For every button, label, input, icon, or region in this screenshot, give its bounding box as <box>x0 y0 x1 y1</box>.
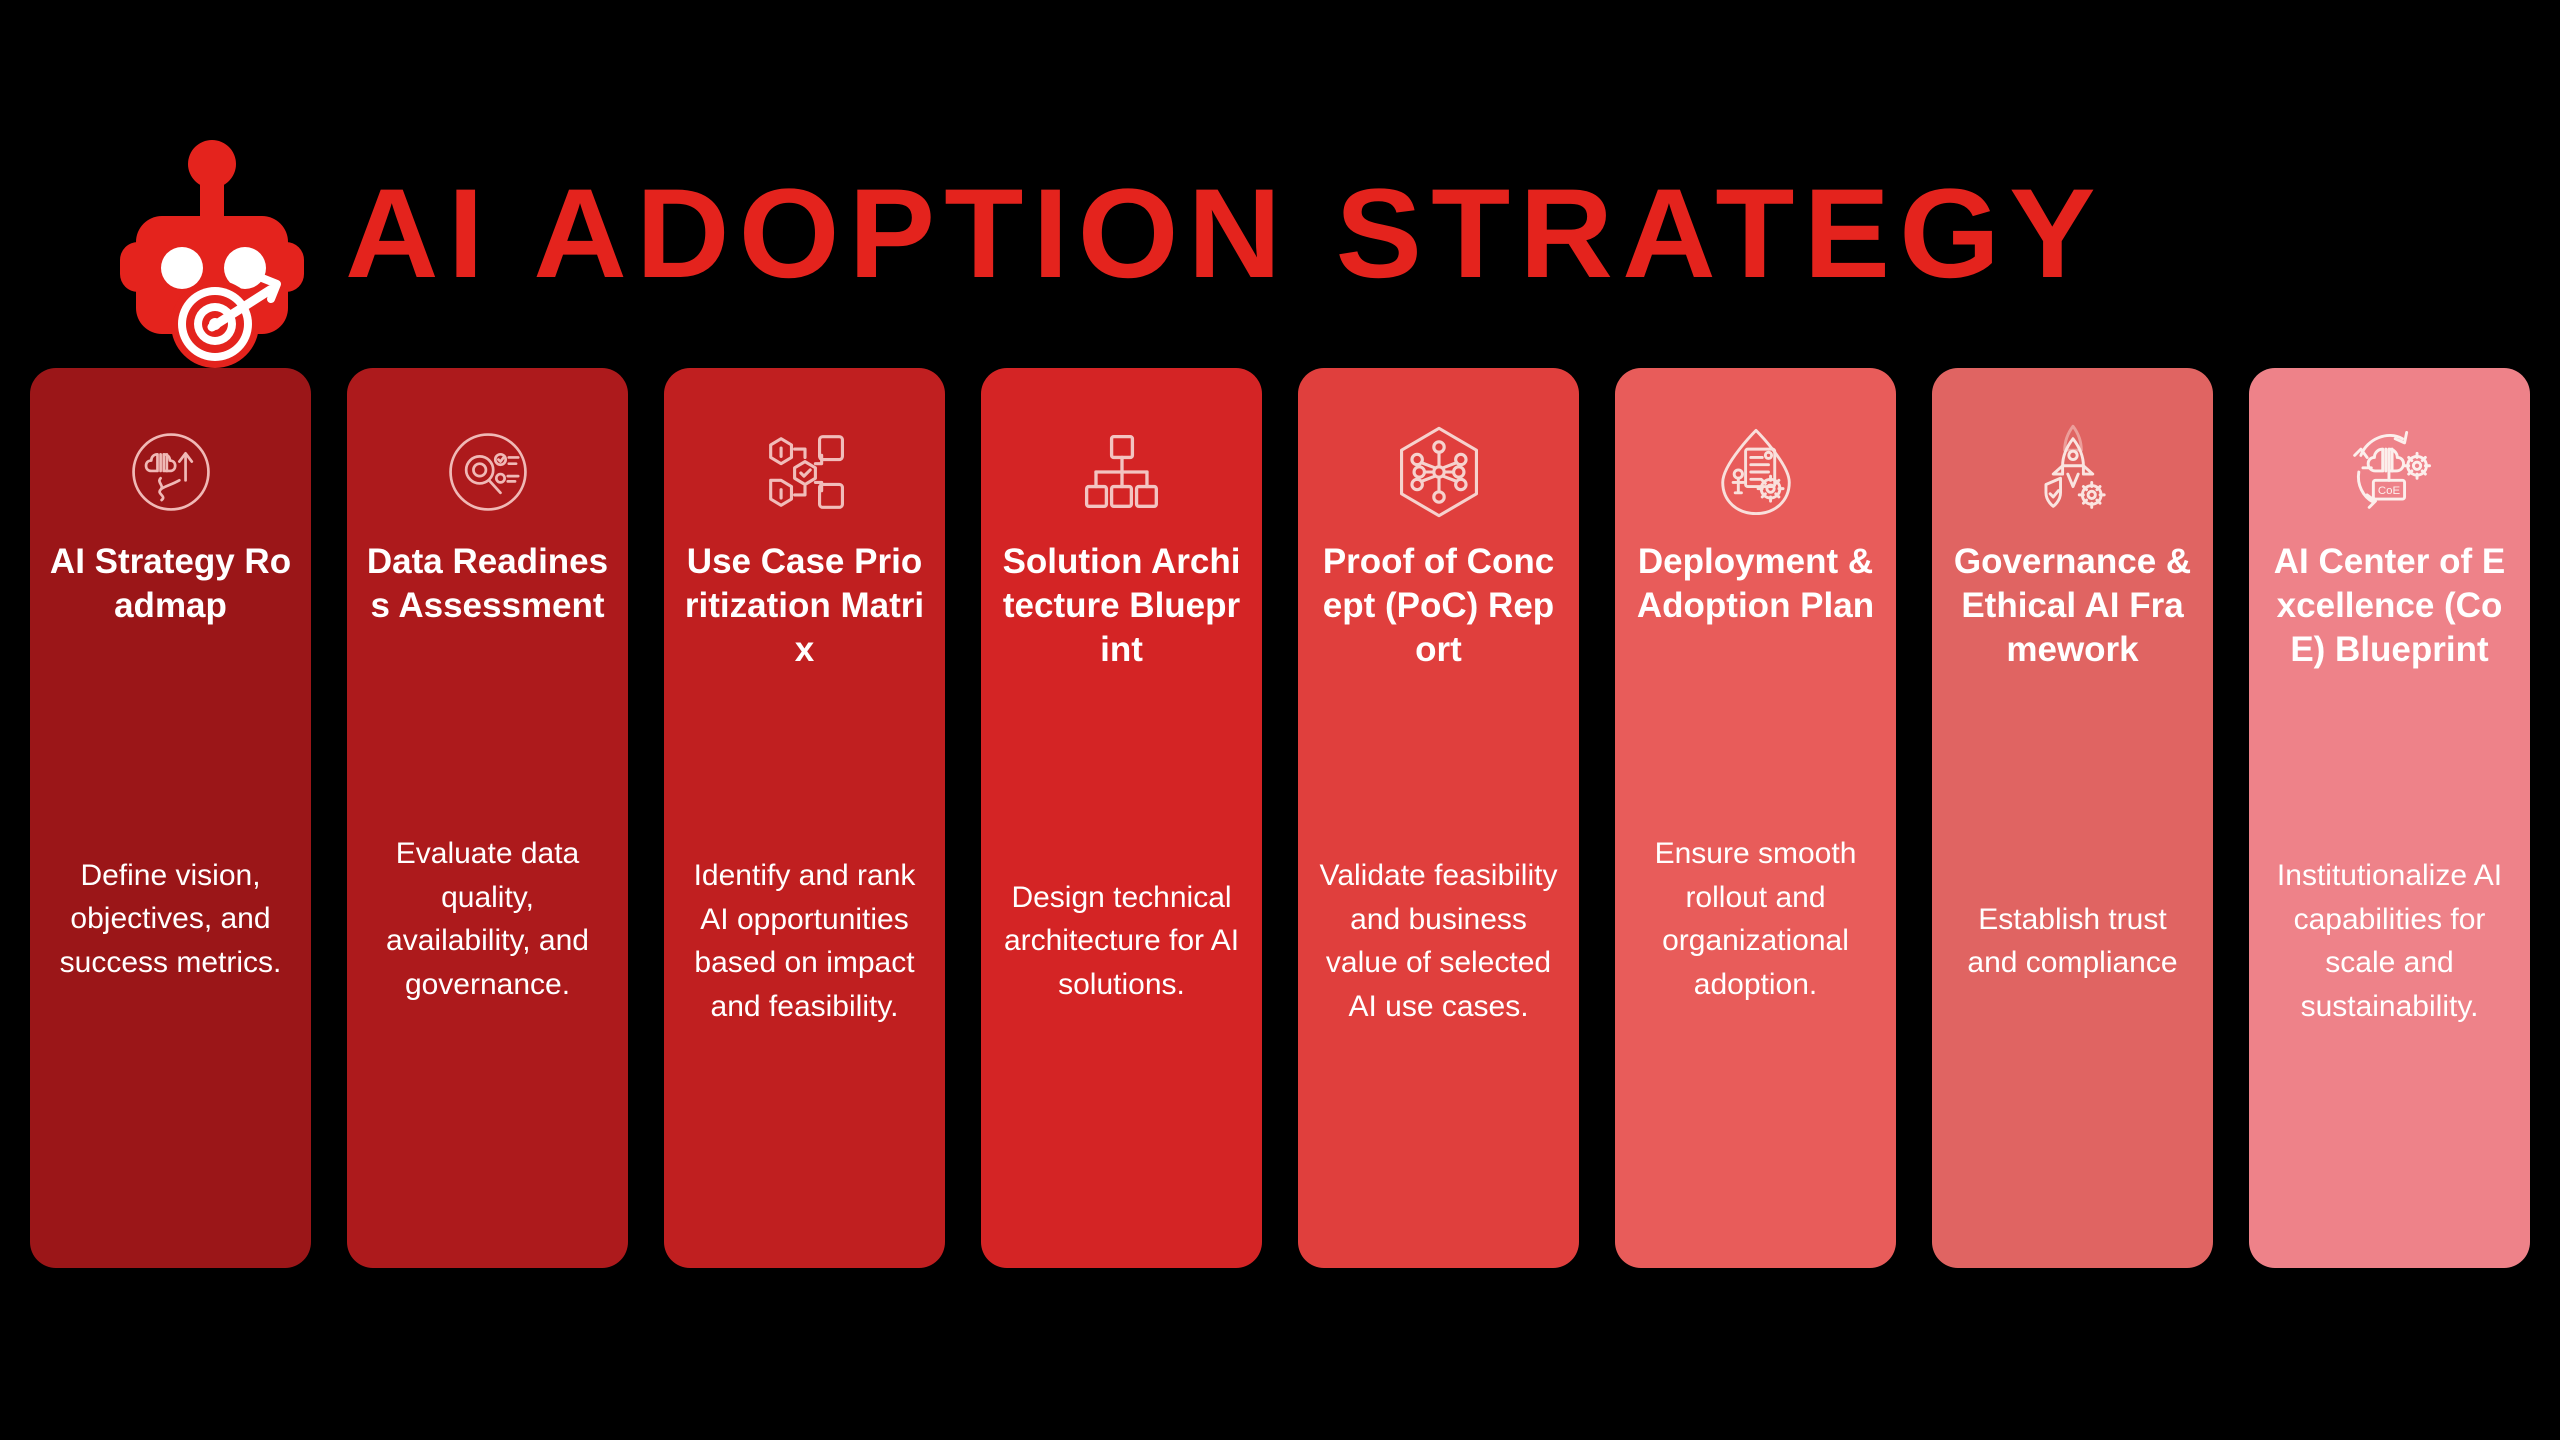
card-title: Data Readiness Assessment <box>365 540 610 628</box>
card-proof-of-concept-report[interactable]: Proof of Concept (PoC) Report Validate f… <box>1298 368 1579 1268</box>
card-row: AI Strategy Roadmap Define vision, objec… <box>30 368 2530 1268</box>
card-title: AI Strategy Roadmap <box>48 540 293 628</box>
hierarchy-tree-icon <box>1070 420 1174 524</box>
card-body: Evaluate data quality, availability, and… <box>365 628 610 1268</box>
card-governance-ethical-ai-framework[interactable]: Governance & Ethical AI Framework Establ… <box>1932 368 2213 1268</box>
card-body: Validate feasibility and business value … <box>1316 672 1561 1268</box>
card-title: Deployment & Adoption Plan <box>1633 540 1878 628</box>
card-body: Define vision, objectives, and success m… <box>48 628 293 1268</box>
card-description: Establish trust and compliance <box>1950 898 2195 1043</box>
header: AI ADOPTION STRATEGY <box>0 120 2560 360</box>
card-solution-architecture-blueprint[interactable]: Solution Architecture Blueprint Design t… <box>981 368 1262 1268</box>
droplet-document-gear-icon <box>1704 420 1808 524</box>
card-description: Ensure smooth rollout and organizational… <box>1633 832 1878 1064</box>
card-data-readiness-assessment[interactable]: Data Readiness Assessment Evaluate data … <box>347 368 628 1268</box>
card-description: Evaluate data quality, availability, and… <box>365 832 610 1064</box>
card-description: Validate feasibility and business value … <box>1316 854 1561 1086</box>
infographic-canvas: AI ADOPTION STRATEGY AI Strategy Roadmap <box>0 0 2560 1440</box>
card-ai-strategy-roadmap[interactable]: AI Strategy Roadmap Define vision, objec… <box>30 368 311 1268</box>
card-deployment-adoption-plan[interactable]: Deployment & Adoption Plan Ensure smooth… <box>1615 368 1896 1268</box>
robot-target-icon <box>112 138 312 373</box>
card-description: Identify and rank AI opportunities based… <box>682 854 927 1086</box>
card-description: Institutionalize AI capabilities for sca… <box>2267 854 2512 1086</box>
card-body: Establish trust and compliance <box>1950 672 2195 1268</box>
card-body: Ensure smooth rollout and organizational… <box>1633 628 1878 1268</box>
card-title: Use Case Prioritization Matrix <box>682 540 927 672</box>
card-body: Design technical architecture for AI sol… <box>999 672 1244 1268</box>
card-body: Identify and rank AI opportunities based… <box>682 672 927 1268</box>
card-use-case-prioritization-matrix[interactable]: Use Case Prioritization Matrix Identify … <box>664 368 945 1268</box>
brain-path-arrow-icon <box>119 420 223 524</box>
page-title: AI ADOPTION STRATEGY <box>345 170 2105 297</box>
card-body: Institutionalize AI capabilities for sca… <box>2267 672 2512 1268</box>
card-title: Solution Architecture Blueprint <box>999 540 1244 672</box>
brain-cycle-coe-icon: CoE <box>2338 420 2442 524</box>
hexagon-matrix-icon <box>753 420 857 524</box>
svg-text:CoE: CoE <box>2377 485 2400 497</box>
card-description: Define vision, objectives, and success m… <box>48 854 293 1043</box>
card-title: Governance & Ethical AI Framework <box>1950 540 2195 672</box>
card-ai-center-of-excellence-blueprint[interactable]: CoE AI Center of Excellence (CoE) Bluepr… <box>2249 368 2530 1268</box>
card-title: AI Center of Excellence (CoE) Blueprint <box>2267 540 2512 672</box>
magnifier-checklist-icon <box>436 420 540 524</box>
card-description: Design technical architecture for AI sol… <box>999 876 1244 1065</box>
rocket-shield-gear-icon <box>2021 420 2125 524</box>
card-title: Proof of Concept (PoC) Report <box>1316 540 1561 672</box>
hexagon-network-icon <box>1387 420 1491 524</box>
